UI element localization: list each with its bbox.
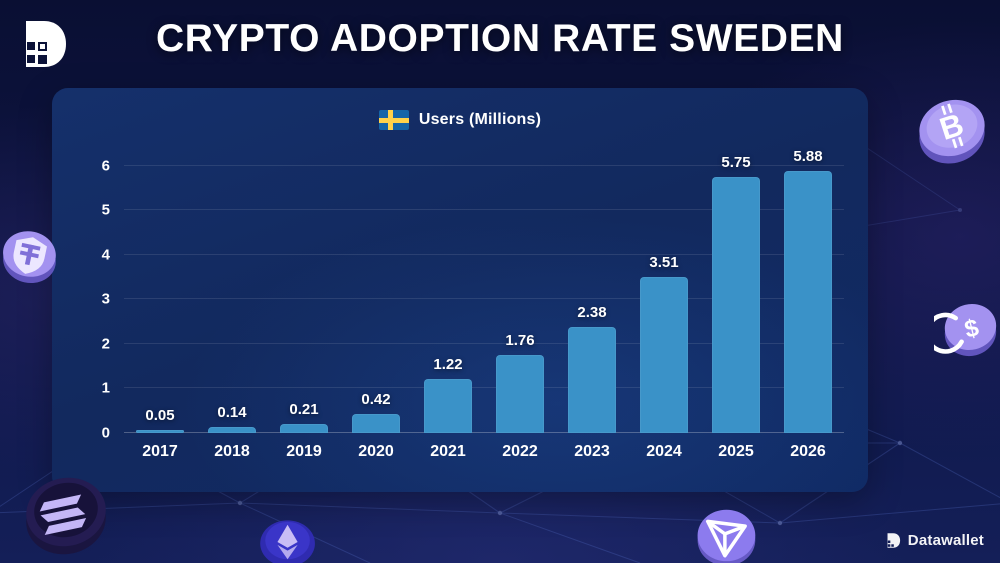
x-axis-tick-label: 2019: [286, 443, 322, 461]
bar-value-label: 0.05: [145, 407, 174, 424]
bar[interactable]: [712, 177, 760, 433]
chart-legend: Users (Millions): [52, 110, 868, 130]
bar-group[interactable]: 0.212019: [268, 148, 340, 433]
header: CRYPTO ADOPTION RATE SWEDEN: [0, 0, 1000, 86]
y-axis-tick-label: 4: [102, 246, 110, 263]
bar-value-label: 1.22: [433, 356, 462, 373]
x-axis-tick-label: 2023: [574, 443, 610, 461]
y-axis-tick-label: 0: [102, 425, 110, 442]
bar-value-label: 0.14: [217, 404, 246, 421]
bar-value-label: 5.88: [793, 148, 822, 165]
y-axis-tick-label: 5: [102, 202, 110, 219]
x-axis-tick-label: 2022: [502, 443, 538, 461]
x-axis-tick-label: 2017: [142, 443, 178, 461]
x-axis-tick-label: 2025: [718, 443, 754, 461]
y-axis-tick-label: 3: [102, 291, 110, 308]
page-title: CRYPTO ADOPTION RATE SWEDEN: [0, 17, 1000, 61]
bar-group[interactable]: 0.052017: [124, 148, 196, 433]
bar-value-label: 0.42: [361, 391, 390, 408]
watermark: Datawallet: [885, 532, 984, 549]
bar[interactable]: [640, 277, 688, 433]
datawallet-logo-icon: [885, 532, 902, 549]
x-axis-tick-label: 2020: [358, 443, 394, 461]
bar[interactable]: [424, 379, 472, 433]
legend-label: Users (Millions): [419, 111, 541, 129]
usdc-coin-icon: $: [934, 286, 1000, 368]
svg-text:$: $: [962, 314, 982, 344]
bar-value-label: 3.51: [649, 254, 678, 271]
x-axis-tick-label: 2018: [214, 443, 250, 461]
watermark-text: Datawallet: [908, 532, 984, 549]
bar[interactable]: [568, 327, 616, 433]
y-axis-tick-label: 2: [102, 335, 110, 352]
chart-panel: Users (Millions) 0123456 0.0520170.14201…: [52, 88, 868, 492]
bar-group[interactable]: 3.512024: [628, 148, 700, 433]
bar[interactable]: [784, 171, 832, 433]
bar-group[interactable]: 5.752025: [700, 148, 772, 433]
bar-group[interactable]: 5.882026: [772, 148, 844, 433]
bar[interactable]: [280, 424, 328, 433]
y-axis-tick-label: 6: [102, 157, 110, 174]
x-axis-tick-label: 2021: [430, 443, 466, 461]
bar[interactable]: [496, 355, 544, 433]
svg-text:B: B: [935, 107, 967, 147]
y-axis-tick-label: 1: [102, 380, 110, 397]
bar-value-label: 2.38: [577, 304, 606, 321]
tron-coin-icon: [686, 498, 770, 563]
bar[interactable]: [208, 427, 256, 433]
bar-group[interactable]: 1.762022: [484, 148, 556, 433]
x-axis-tick-label: 2026: [790, 443, 826, 461]
poster-stage: CRYPTO ADOPTION RATE SWEDEN Users (Milli…: [0, 0, 1000, 563]
bitcoin-coin-icon: B: [906, 82, 998, 174]
bar[interactable]: [352, 414, 400, 433]
bar-value-label: 1.76: [505, 332, 534, 349]
x-axis-tick-label: 2024: [646, 443, 682, 461]
bar[interactable]: [136, 430, 184, 433]
bar-group[interactable]: 0.422020: [340, 148, 412, 433]
bar-group[interactable]: 2.382023: [556, 148, 628, 433]
plot-area: 0123456 0.0520170.1420180.2120190.422020…: [124, 148, 844, 433]
ethereum-coin-icon: [246, 506, 332, 563]
bar-series: 0.0520170.1420180.2120190.4220201.222021…: [124, 148, 844, 433]
bar-value-label: 0.21: [289, 401, 318, 418]
sweden-flag-icon: [379, 110, 409, 130]
bar-group[interactable]: 0.142018: [196, 148, 268, 433]
bar-group[interactable]: 1.222021: [412, 148, 484, 433]
bar-value-label: 5.75: [721, 154, 750, 171]
